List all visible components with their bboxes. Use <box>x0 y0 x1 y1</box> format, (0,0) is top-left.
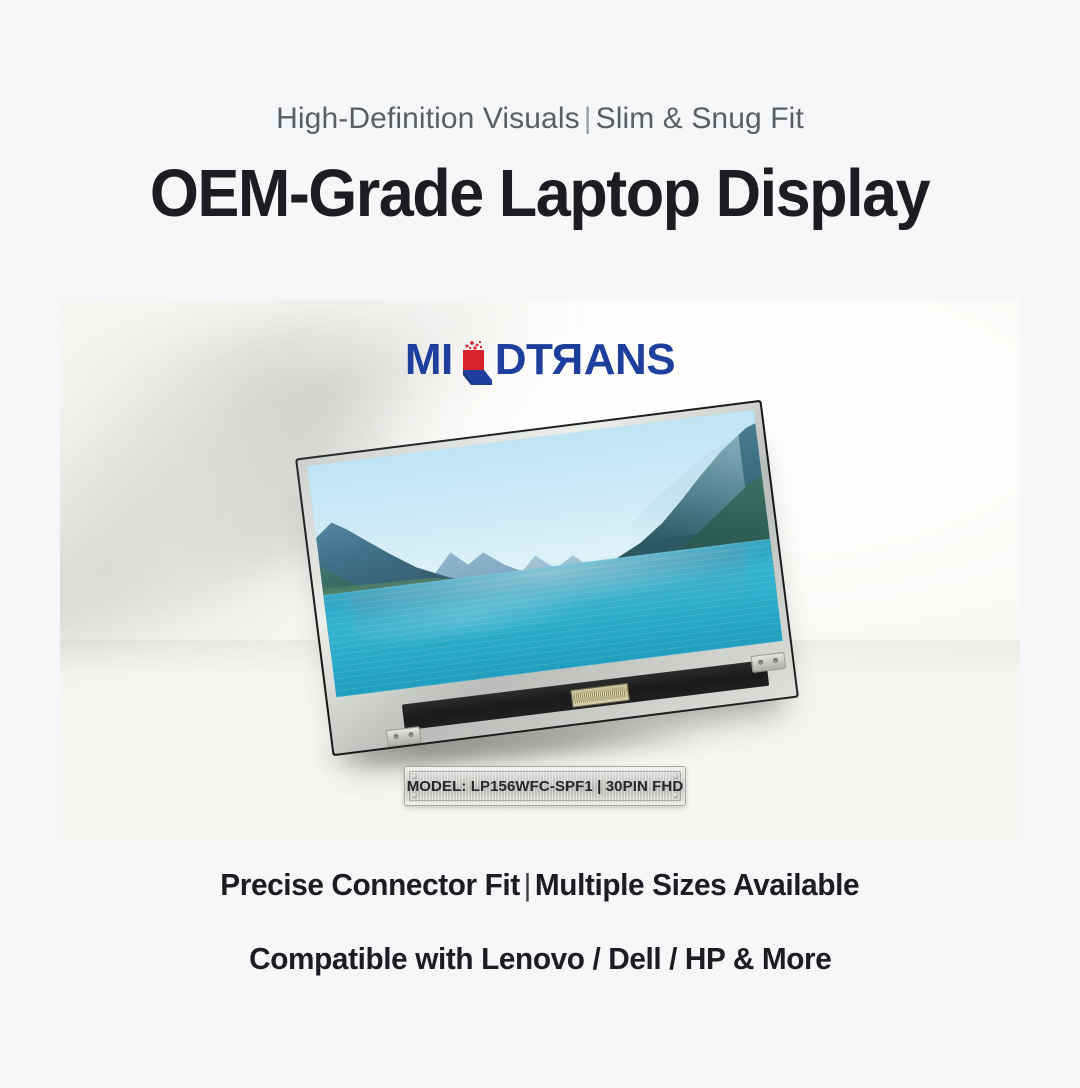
banner-subtitle: High-Definition Visuals|Slim & Snug Fit <box>276 102 804 135</box>
model-info-plate: MODEL: LP156WFC-SPF1 | 30PIN FHD <box>404 766 686 806</box>
feature-line-one-left: Precise Connector Fit <box>221 867 521 902</box>
subtitle-divider: | <box>580 102 596 135</box>
lcd-bezel <box>295 400 799 757</box>
feature-line-one: Precise Connector Fit|Multiple Sizes Ava… <box>221 868 860 902</box>
subtitle-left-text: High-Definition Visuals <box>276 102 580 135</box>
subtitle-right-text: Slim & Snug Fit <box>596 102 804 135</box>
logo-text-flipped-r: R <box>552 338 583 382</box>
model-plate-text: MODEL: LP156WFC-SPF1 | 30PIN FHD <box>407 778 684 795</box>
laptop-lcd-panel <box>295 400 799 757</box>
logo-text-after: ANS <box>584 338 675 382</box>
feature-line-one-divider: | <box>520 867 535 902</box>
product-banner: High-Definition Visuals|Slim & Snug Fit … <box>0 0 1080 1088</box>
compatibility-line: Compatible with Lenovo / Dell / HP & Mor… <box>249 942 831 976</box>
mounting-bracket-left <box>386 726 422 747</box>
feature-line-one-right: Multiple Sizes Available <box>535 867 859 902</box>
banner-footer: Precise Connector Fit|Multiple Sizes Ava… <box>0 868 1080 976</box>
product-image-panel: MI <box>60 300 1020 840</box>
page-title: OEM-Grade Laptop Display <box>150 159 929 229</box>
